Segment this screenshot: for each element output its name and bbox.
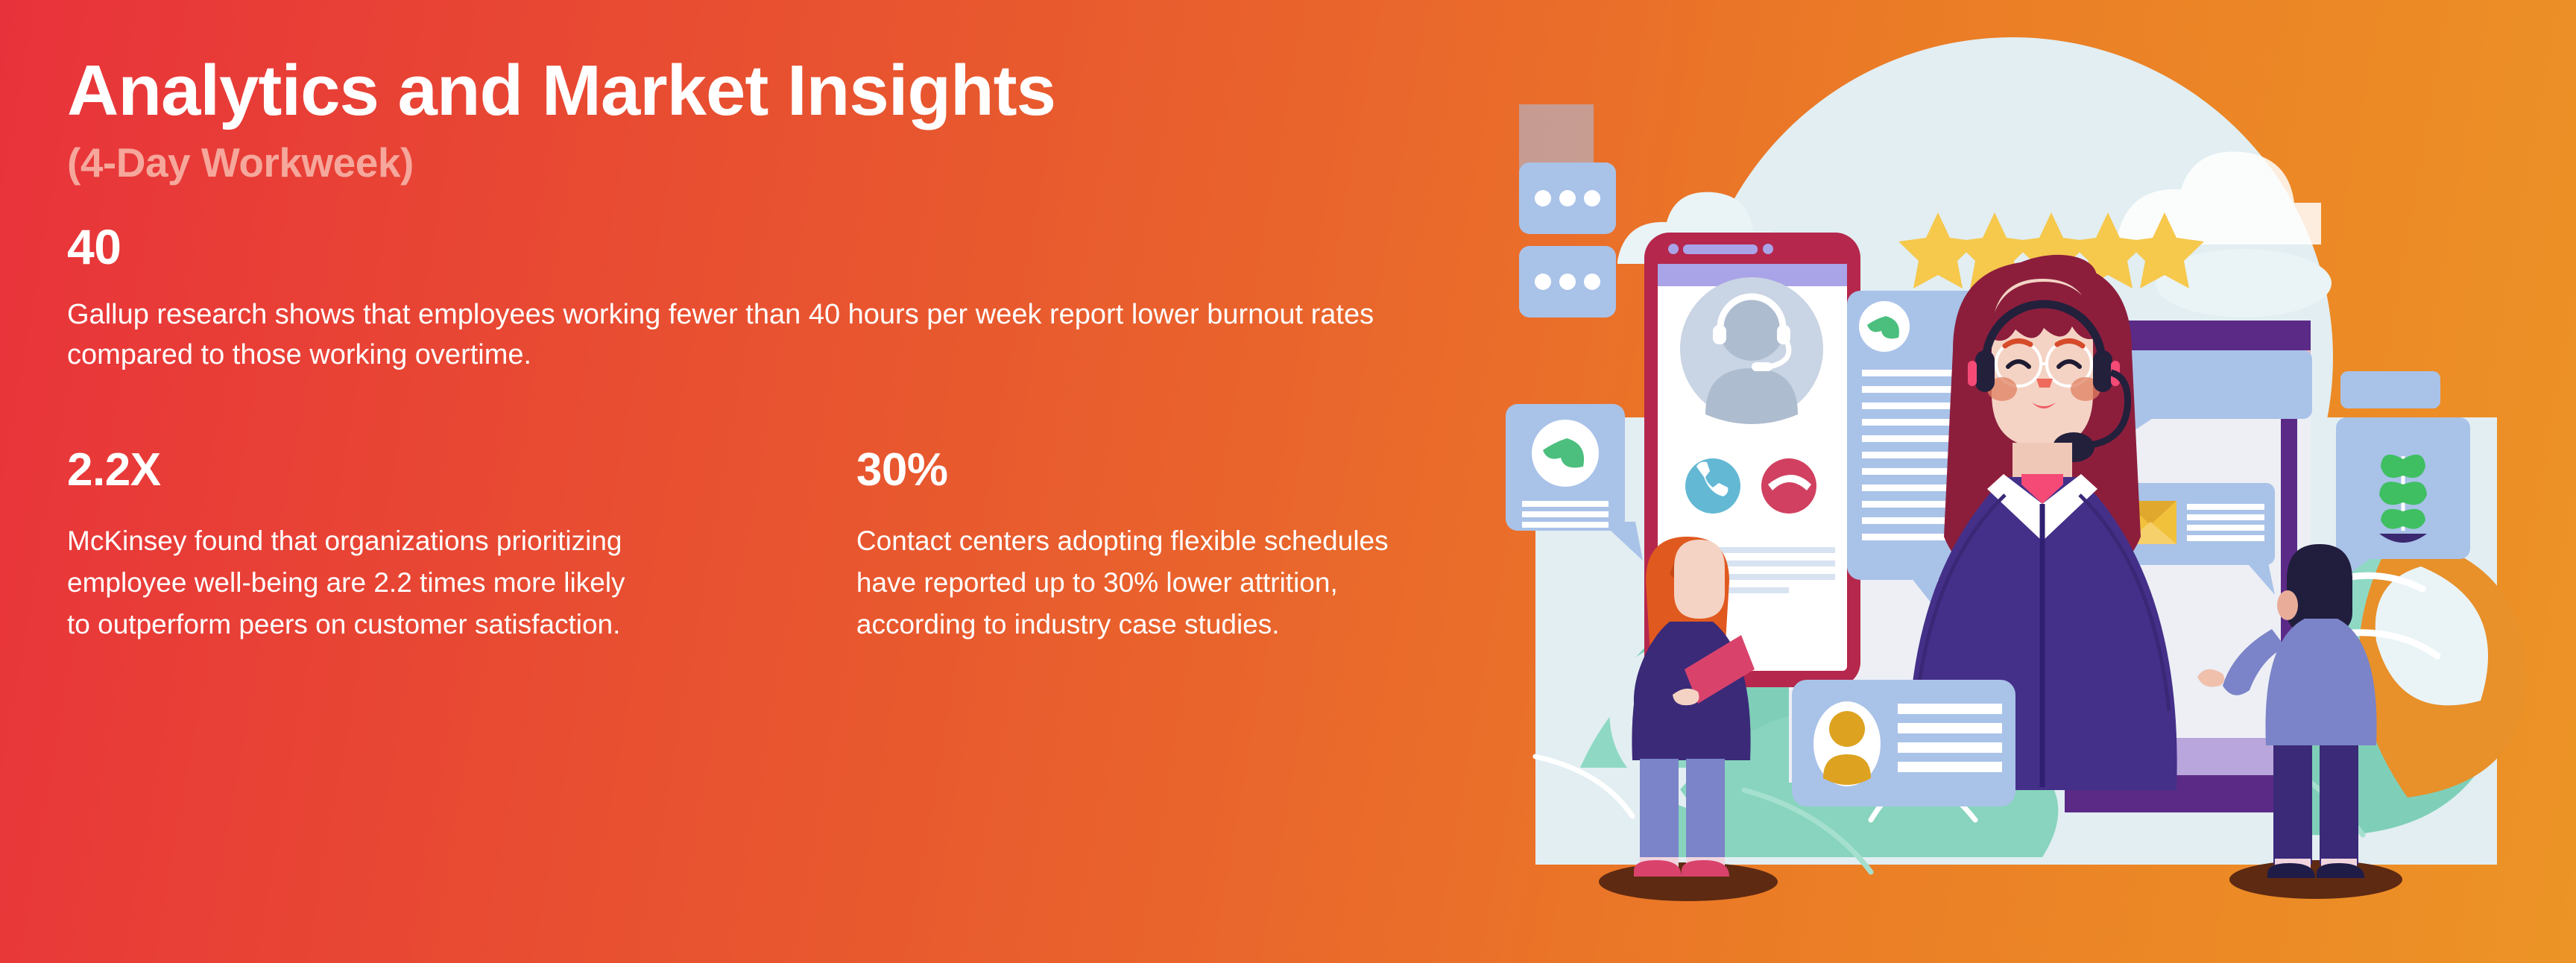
man-leg-right bbox=[2320, 745, 2358, 865]
bubble-backdrop-card bbox=[1519, 104, 1594, 186]
secondary-stat-body-2: Contact centers adopting flexible schedu… bbox=[856, 520, 1438, 646]
typing-dot-2a bbox=[1535, 274, 1551, 290]
man-leg-left bbox=[2273, 745, 2312, 865]
leaf-card-left-line-2 bbox=[1522, 511, 1609, 517]
phone-speaker-slot bbox=[1683, 244, 1758, 254]
banner-text-pane: Analytics and Market Insights (4-Day Wor… bbox=[0, 0, 1491, 963]
agent-earcup-right bbox=[2093, 350, 2112, 392]
typing-dot-1b bbox=[1559, 190, 1576, 206]
secondary-stats-row: 2.2X McKinsey found that organizations p… bbox=[67, 447, 1491, 646]
leaf-card-left-line-3 bbox=[1522, 522, 1609, 528]
phone-caller-mic bbox=[1752, 362, 1772, 371]
phone-camera-dot bbox=[1668, 244, 1679, 254]
id-card-bubble bbox=[1792, 680, 2015, 806]
primary-stat-number: 40 bbox=[67, 222, 1491, 271]
secondary-stat-body-1: McKinsey found that organizations priori… bbox=[67, 520, 648, 646]
typing-bubbles-group bbox=[1519, 104, 1616, 318]
plant-bubble-header bbox=[2340, 371, 2440, 408]
page-title: Analytics and Market Insights bbox=[67, 54, 1491, 128]
primary-stat-block: 40 Gallup research shows that employees … bbox=[67, 222, 1491, 376]
typing-dot-1c bbox=[1584, 190, 1600, 206]
ground-shadow-man bbox=[2229, 860, 2402, 899]
typing-dot-2c bbox=[1584, 274, 1600, 290]
illustration-svg bbox=[1491, 0, 2576, 963]
secondary-stat-block-1: 2.2X McKinsey found that organizations p… bbox=[67, 447, 856, 646]
agent-earcup-left bbox=[1975, 350, 1995, 392]
id-card-avatar-head bbox=[1829, 711, 1865, 747]
phone-sensor-dot bbox=[1763, 244, 1773, 254]
man-ear bbox=[2277, 590, 2298, 620]
agent-earcup-accent-left bbox=[1968, 361, 1977, 386]
typing-dot-1a bbox=[1535, 190, 1551, 206]
secondary-stat-number-1: 2.2X bbox=[67, 447, 856, 493]
secondary-stat-number-2: 30% bbox=[856, 447, 1491, 493]
woman-leg-left bbox=[1640, 759, 1679, 863]
contact-center-illustration bbox=[1491, 0, 2576, 963]
accept-call-button[interactable] bbox=[1685, 458, 1740, 514]
phone-caller-earcup-left bbox=[1713, 325, 1726, 344]
primary-stat-body: Gallup research shows that employees wor… bbox=[67, 295, 1379, 376]
leaf-card-left-line-1 bbox=[1522, 501, 1609, 507]
woman-face bbox=[1674, 540, 1725, 619]
secondary-stat-block-2: 30% Contact centers adopting flexible sc… bbox=[856, 447, 1491, 646]
typing-dot-2b bbox=[1559, 274, 1576, 290]
blank-chat-bubble-body bbox=[2115, 350, 2312, 419]
page-subtitle: (4-Day Workweek) bbox=[67, 139, 1491, 186]
woman-leg-right bbox=[1686, 759, 1725, 863]
